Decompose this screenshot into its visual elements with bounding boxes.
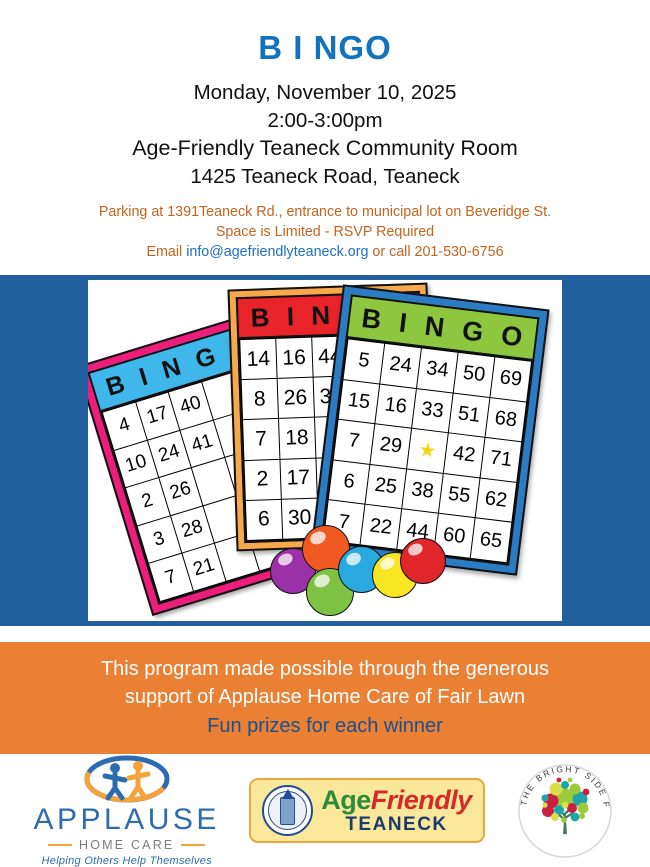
bingo-cell: 24 [380, 344, 421, 388]
card-grid-green: 5243450691516335168729★42716253855627224… [320, 336, 534, 566]
applause-subtitle: HOME CARE [48, 838, 206, 852]
logo-bright-side-family: THE BRIGHT SIDE FAMILY [512, 758, 618, 864]
card-caption-letter: N [311, 300, 332, 332]
bingo-cell: 34 [417, 349, 458, 393]
flyer: B I NGO Monday, November 10, 2025 2:00-3… [0, 0, 650, 867]
logo-row: APPLAUSE HOME CARE Helping Others Help T… [0, 754, 650, 867]
card-caption-letter: I [136, 362, 152, 392]
bingo-cell: 55 [439, 474, 480, 518]
bingo-cell: 14 [240, 339, 276, 379]
bingo-cell: 62 [476, 478, 517, 522]
card-caption-letter: G [461, 315, 487, 348]
bingo-cell: 26 [277, 378, 313, 418]
bingo-cell: 7 [243, 419, 279, 459]
aft-wordmark: AgeFriendly TEANECK [321, 787, 472, 834]
bingo-cell: 8 [242, 379, 278, 419]
sponsor-band: This program made possible through the g… [0, 642, 650, 754]
email-link[interactable]: info@agefriendlyteaneck.org [186, 244, 368, 260]
event-time: 2:00-3:00pm [0, 107, 650, 134]
card-caption-letter: I [397, 307, 409, 339]
bingo-cell: 5 [344, 339, 385, 383]
card-caption-letter: B [103, 369, 130, 402]
logo-age-friendly-teaneck: AgeFriendly TEANECK [249, 778, 485, 843]
header: B I NGO Monday, November 10, 2025 2:00-3… [0, 0, 650, 262]
bingo-cell: 68 [486, 398, 527, 442]
bingo-cell: 17 [280, 458, 316, 498]
card-caption-letter: B [360, 303, 384, 336]
bingo-cell: 69 [491, 358, 532, 402]
aft-friendly-text: Friendly [371, 785, 472, 815]
brightside-mark: THE BRIGHT SIDE FAMILY [512, 758, 618, 864]
applause-tagline: Helping Others Help Themselves [42, 855, 212, 867]
bingo-cell: 51 [449, 393, 490, 437]
page-title: B I NGO [0, 30, 650, 66]
bingo-cell: 65 [471, 519, 512, 563]
card-caption-letter: N [159, 352, 186, 385]
card-caption-letter: B [250, 302, 271, 334]
aft-teaneck-text: TEANECK [321, 815, 472, 834]
bingo-cell: 2 [244, 460, 280, 500]
contact-suffix: or call 201-530-6756 [368, 244, 503, 260]
bingo-cell: 18 [279, 418, 315, 458]
sponsor-line-3: Fun prizes for each winner [40, 712, 610, 740]
aft-badge: AgeFriendly TEANECK [249, 778, 485, 843]
bingo-illustration: BINGO 41740102441226328721 BINGO 1416448… [88, 280, 562, 621]
bingo-cell: 33 [412, 389, 453, 433]
bingo-cell: 71 [481, 438, 522, 482]
aft-age-text: Age [321, 785, 371, 815]
bingo-cell: ★ [407, 429, 448, 473]
bingo-cell: 25 [365, 465, 406, 509]
rsvp-note: Space is Limited - RSVP Required [0, 222, 650, 242]
sponsor-line-1: This program made possible through the g… [40, 655, 610, 683]
bingo-cards-layer: BINGO 41740102441226328721 BINGO 1416448… [88, 280, 562, 621]
bingo-card-green: BINGO 5243450691516335168729★42716253855… [310, 284, 549, 575]
applause-sub-text: HOME CARE [79, 838, 175, 852]
brightside-tree-icon [512, 758, 618, 864]
contact-prefix: Email [146, 244, 186, 260]
sponsor-line-2: support of Applause Home Care of Fair La… [40, 683, 610, 711]
card-caption-letter: I [286, 301, 295, 332]
seal-torch-icon [280, 797, 295, 825]
bingo-cell: 15 [339, 380, 380, 424]
contact-note: Email info@agefriendlyteaneck.org or cal… [0, 242, 650, 262]
card-caption-letter: O [500, 320, 526, 353]
bingo-cell: 7 [334, 420, 375, 464]
bingo-cell: 22 [361, 505, 402, 549]
bingo-cell: 29 [370, 425, 411, 469]
bingo-chip [400, 538, 446, 584]
event-address: 1425 Teaneck Road, Teaneck [0, 163, 650, 190]
logo-applause-home-care: APPLAUSE HOME CARE Helping Others Help T… [32, 754, 222, 867]
event-date: Monday, November 10, 2025 [0, 79, 650, 106]
bingo-cell: 6 [246, 500, 282, 540]
card-caption-letter: G [192, 341, 220, 375]
aft-top-line: AgeFriendly [321, 787, 472, 814]
event-venue: Age-Friendly Teaneck Community Room [0, 134, 650, 163]
applause-rule-right [181, 844, 205, 846]
applause-rule-left [48, 844, 72, 846]
applause-mark-icon [75, 754, 179, 804]
bingo-cell: 38 [402, 469, 443, 513]
teaneck-township-seal-icon [262, 785, 313, 836]
bingo-cell: 50 [454, 353, 495, 397]
bingo-cell: 6 [329, 460, 370, 504]
card-caption-letter: N [423, 310, 447, 343]
bingo-cell: 16 [375, 384, 416, 428]
bingo-cell: 16 [276, 338, 312, 378]
bingo-cell: 42 [444, 434, 485, 478]
applause-name: APPLAUSE [34, 805, 220, 835]
event-notes: Parking at 1391Teaneck Rd., entrance to … [0, 202, 650, 263]
parking-note: Parking at 1391Teaneck Rd., entrance to … [0, 202, 650, 222]
image-band: BINGO 41740102441226328721 BINGO 1416448… [0, 275, 650, 625]
